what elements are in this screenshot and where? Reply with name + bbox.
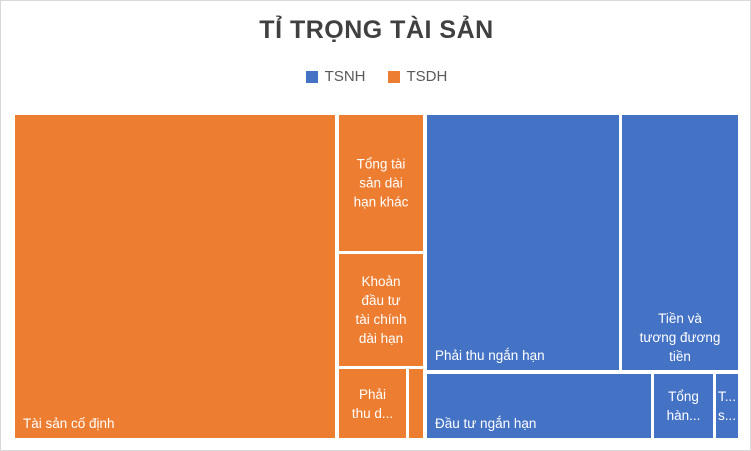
legend-swatch-tsdh — [388, 71, 400, 83]
treemap-cell[interactable]: Đầu tư ngắn hạn — [427, 374, 651, 438]
treemap-cell-label: T... s... — [718, 387, 738, 425]
treemap-cell[interactable]: Tiền và tương đương tiền — [622, 115, 738, 370]
treemap-cell-label: Tổng hàn... — [656, 387, 711, 425]
treemap-chart-frame: TỈ TRỌNG TÀI SẢN TSNH TSDH Tài sản cố đị… — [0, 0, 751, 451]
legend-swatch-tsnh — [306, 71, 318, 83]
treemap-cell-label: Tổng tài sản dài hạn khác — [341, 155, 421, 212]
treemap-cell-label: Tài sản cố định — [23, 414, 331, 433]
legend-item-tsdh[interactable]: TSDH — [388, 69, 448, 84]
treemap-cell[interactable]: Phải thu ngắn hạn — [427, 115, 619, 370]
chart-legend: TSNH TSDH — [1, 69, 751, 84]
treemap-cell-label: Đầu tư ngắn hạn — [435, 414, 647, 433]
treemap-cell[interactable]: Tổng hàn... — [654, 374, 713, 438]
treemap-cell[interactable]: Phải thu d... — [339, 369, 406, 438]
treemap-cell[interactable]: Khoản đầu tư tài chính dài hạn — [339, 254, 423, 366]
legend-label-tsdh: TSDH — [407, 69, 448, 84]
treemap-cell[interactable]: T... s... — [716, 374, 738, 438]
treemap-cell-label: Khoản đầu tư tài chính dài hạn — [341, 272, 421, 348]
treemap-cell-label: Phải thu ngắn hạn — [435, 346, 615, 365]
treemap-cell[interactable]: Tài sản cố định — [15, 115, 335, 438]
chart-title: TỈ TRỌNG TÀI SẢN — [1, 13, 751, 47]
legend-label-tsnh: TSNH — [325, 69, 366, 84]
legend-item-tsnh[interactable]: TSNH — [306, 69, 366, 84]
treemap-cell-label: Phải thu d... — [341, 385, 404, 423]
treemap-plot-area: Tài sản cố địnhTổng tài sản dài hạn khác… — [15, 115, 738, 438]
treemap-cell[interactable] — [409, 369, 423, 438]
treemap-cell-label: Tiền và tương đương tiền — [624, 309, 736, 366]
treemap-cell[interactable]: Tổng tài sản dài hạn khác — [339, 115, 423, 251]
